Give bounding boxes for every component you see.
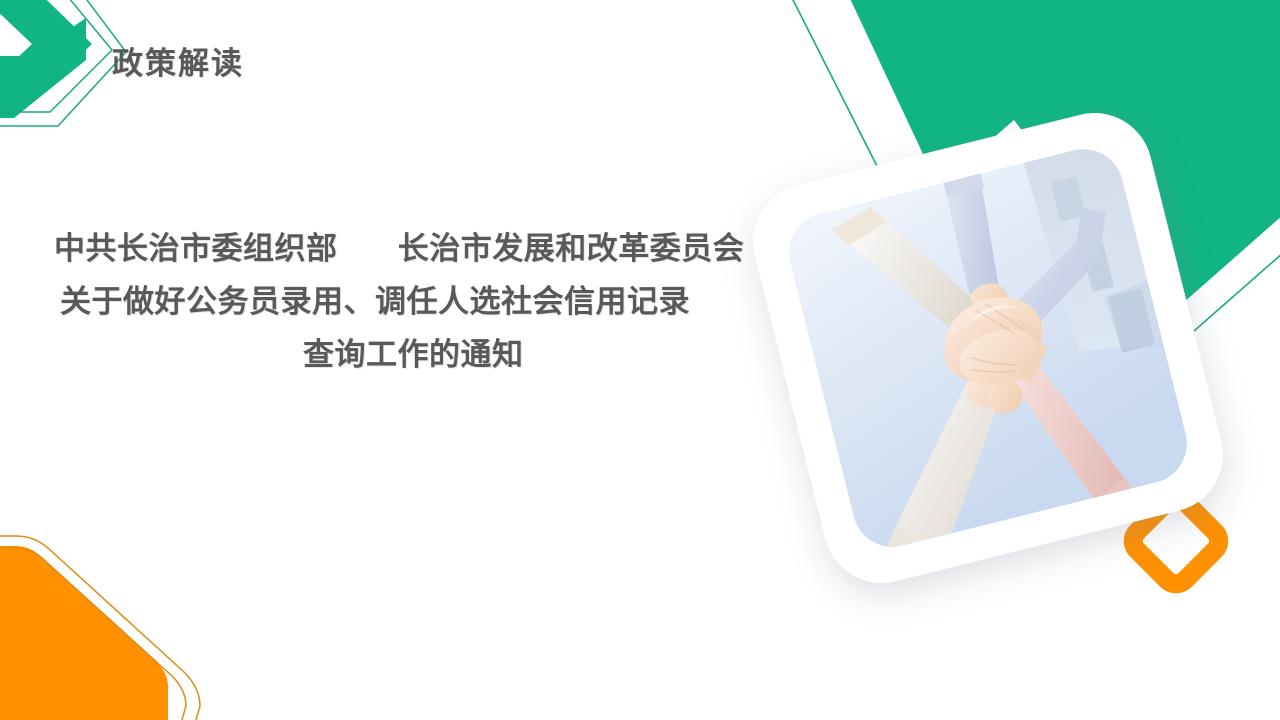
green-chevron-right [0, 0, 92, 116]
page-title: 政策解读 [112, 38, 244, 83]
orange-rounded-blob [0, 546, 168, 720]
orange-rounded-outline-2 [0, 536, 200, 720]
green-chevron-outline-2 [0, 0, 126, 126]
title-line-1-part-2: 长治市发展和改革委员会 [398, 231, 745, 266]
slide-canvas: 政策解读 [0, 0, 1280, 720]
title-line-3: 查询工作的通知 [0, 328, 880, 381]
green-chevron-right-lower [0, 18, 86, 118]
green-chevron-outline [0, 0, 112, 112]
document-title: 中共长治市委组织部 长治市发展和改革委员会 关于做好公务员录用、调任人选社会信用… [0, 222, 880, 381]
title-line-1-part-1: 中共长治市委组织部 [54, 231, 338, 266]
green-diagonal-line [790, 0, 880, 172]
orange-rounded-outline [0, 548, 186, 720]
title-line-2: 关于做好公务员录用、调任人选社会信用记录 [0, 275, 880, 328]
title-line-1: 中共长治市委组织部 长治市发展和改革委员会 [0, 222, 880, 275]
green-diagonal-line-lower [1186, 238, 1280, 338]
